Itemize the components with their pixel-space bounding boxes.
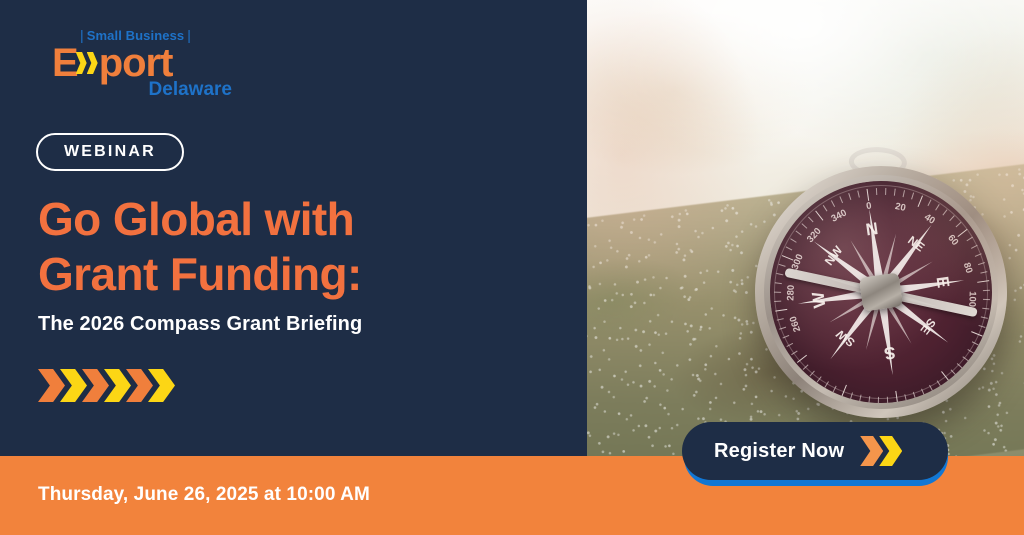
chevron-divider — [38, 369, 170, 402]
compass-cardinal-w: W — [808, 286, 831, 313]
cta-chevron-1 — [860, 436, 883, 466]
compass-illustration: 020406080100260280300320340 NNEESESSWWNW — [739, 150, 1024, 435]
compass-hub — [859, 272, 903, 311]
compass-cardinal-n: N — [859, 218, 886, 241]
register-button-label: Register Now — [714, 440, 844, 463]
export-delaware-logo[interactable]: | Small Business | E port Delaware — [52, 28, 232, 99]
logo-tagline-text: Small Business — [87, 29, 185, 42]
compass-photo: 020406080100260280300320340 NNEESESSWWNW — [587, 0, 1024, 456]
logo-letter-e: E — [52, 43, 78, 83]
chevron-1 — [38, 369, 65, 402]
left-content-panel: | Small Business | E port Delaware WEBIN… — [0, 0, 587, 456]
register-button-wrapper[interactable]: Register Now — [682, 422, 948, 486]
logo-wordmark: E port — [52, 43, 232, 83]
event-datetime-text: Thursday, June 26, 2025 at 10:00 AM — [38, 484, 370, 506]
webinar-badge: WEBINAR — [36, 133, 184, 171]
logo-chevron-icon — [76, 52, 98, 74]
logo-bar-left: | — [80, 28, 84, 42]
register-now-button[interactable]: Register Now — [682, 422, 948, 480]
compass-cardinal-e: E — [931, 269, 954, 296]
webinar-promo-banner: 020406080100260280300320340 NNEESESSWWNW… — [0, 0, 1024, 535]
logo-bar-right: | — [187, 28, 191, 42]
register-chevron-icon — [860, 436, 898, 466]
subtitle: The 2026 Compass Grant Briefing — [38, 313, 362, 336]
headline-line-2: Grant Funding: — [38, 247, 568, 302]
logo-word-port: port — [99, 43, 173, 83]
logo-tagline: | Small Business | — [80, 28, 232, 42]
compass-cardinal-s: S — [876, 341, 903, 364]
webinar-badge-label: WEBINAR — [64, 143, 156, 160]
headline: Go Global with Grant Funding: — [38, 192, 568, 301]
compass-face: 020406080100260280300320340 NNEESESSWWNW — [756, 167, 1007, 418]
headline-line-1: Go Global with — [38, 192, 568, 247]
